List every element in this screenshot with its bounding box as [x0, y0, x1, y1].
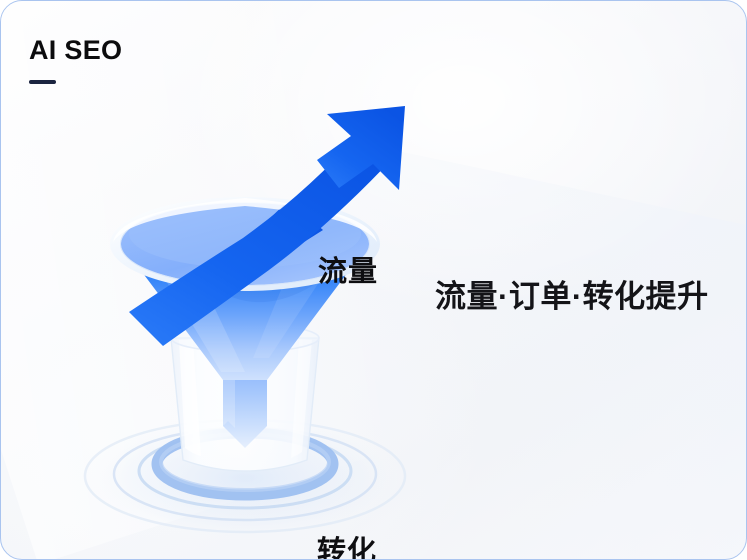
- title-block: AI SEO: [29, 37, 122, 84]
- page-title: AI SEO: [29, 37, 122, 64]
- label-conversion: 转化: [317, 528, 377, 560]
- label-traffic: 流量: [318, 248, 378, 290]
- seo-funnel-card: AI SEO 流量·订单·转化提升: [0, 0, 747, 560]
- funnel-illustration: 流量 转化: [93, 96, 433, 516]
- title-underline-accent: [29, 80, 56, 84]
- funnel-svg: [93, 96, 433, 516]
- tagline-text: 流量·订单·转化提升: [435, 278, 709, 315]
